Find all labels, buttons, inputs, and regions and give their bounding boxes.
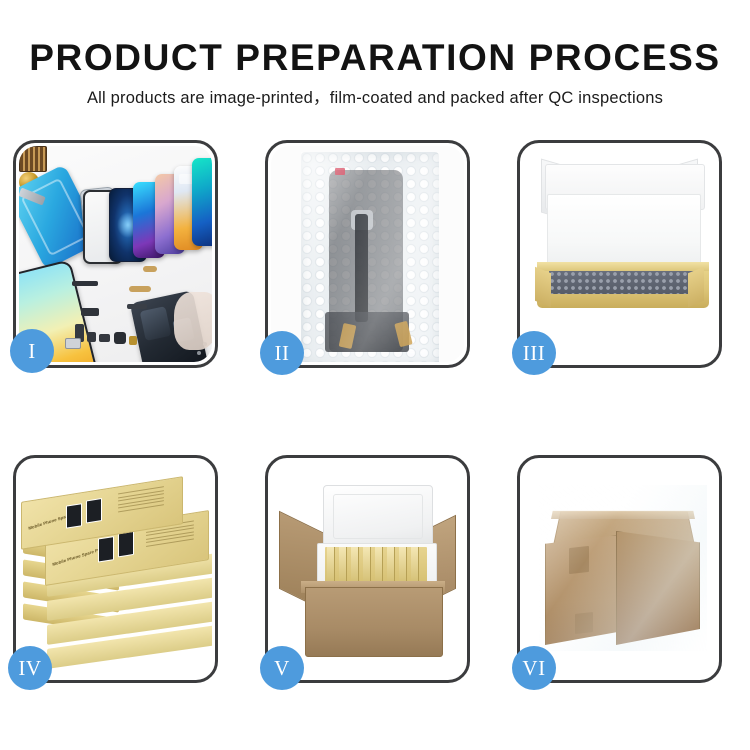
step-panel-1: I bbox=[13, 140, 218, 368]
carton-right-face bbox=[616, 531, 700, 645]
connector-chip bbox=[19, 146, 47, 172]
step-3-photo bbox=[523, 146, 716, 362]
camera-module bbox=[114, 332, 126, 344]
page-title: PRODUCT PREPARATION PROCESS bbox=[0, 0, 750, 78]
carton-tab-lower bbox=[575, 612, 593, 634]
product-preparation-page: PRODUCT PREPARATION PROCESS All products… bbox=[0, 0, 750, 750]
step-2-photo bbox=[271, 146, 464, 362]
step-badge-2: II bbox=[260, 331, 304, 375]
page-subtitle: All products are image-printed，film-coat… bbox=[0, 78, 750, 108]
step-1-photo bbox=[19, 146, 212, 362]
step-panel-3: III bbox=[517, 140, 722, 368]
box-swatch-m1 bbox=[98, 536, 114, 563]
screw-3 bbox=[197, 351, 201, 355]
bubble-wrap-bag bbox=[301, 152, 439, 362]
step-panel-4: Mobile Phone Spare Parts Mobile Phone Sp… bbox=[13, 455, 218, 683]
earpiece-speaker bbox=[72, 281, 98, 286]
power-button-flex bbox=[127, 304, 147, 309]
step-badge-5: V bbox=[260, 646, 304, 690]
step-badge-1: I bbox=[10, 329, 54, 373]
step-panel-5: V bbox=[265, 455, 470, 683]
process-steps-grid: I II bbox=[13, 140, 737, 683]
volume-button-flex bbox=[81, 308, 99, 316]
small-part-b bbox=[99, 334, 110, 342]
step-panel-2: II bbox=[265, 140, 470, 368]
step-badge-4: IV bbox=[8, 646, 52, 690]
foam-box-lid bbox=[323, 485, 433, 549]
antenna-flex bbox=[143, 266, 157, 272]
step-badge-6: VI bbox=[512, 646, 556, 690]
flex-cable-gold bbox=[129, 286, 151, 292]
header: PRODUCT PREPARATION PROCESS All products… bbox=[0, 0, 750, 108]
gold-contact-part bbox=[129, 336, 137, 345]
step-5-photo bbox=[271, 461, 464, 677]
screw-2 bbox=[211, 348, 212, 352]
plastic-sheen bbox=[301, 152, 439, 362]
kraft-tray-rim bbox=[537, 262, 709, 271]
kraft-tray-corner-left bbox=[535, 267, 551, 307]
phone-screen-teal bbox=[192, 158, 212, 246]
step-4-photo: Mobile Phone Spare Parts Mobile Phone Sp… bbox=[19, 461, 212, 677]
box-spec-lines-top bbox=[118, 486, 164, 515]
step-panel-6: VI bbox=[517, 455, 722, 683]
hand bbox=[174, 292, 212, 350]
step-6-photo bbox=[523, 461, 716, 677]
box-swatch-m2 bbox=[118, 531, 134, 558]
packing-tape bbox=[551, 511, 695, 519]
carton-front-panel bbox=[305, 587, 443, 657]
box-swatch-t2 bbox=[86, 498, 102, 524]
step-badge-3: III bbox=[512, 331, 556, 375]
sim-tray bbox=[65, 338, 81, 349]
kraft-tray-corner-right bbox=[688, 267, 704, 307]
box-swatch-t1 bbox=[66, 503, 82, 529]
small-part-a bbox=[87, 332, 96, 342]
carton-tab-upper bbox=[569, 546, 589, 574]
